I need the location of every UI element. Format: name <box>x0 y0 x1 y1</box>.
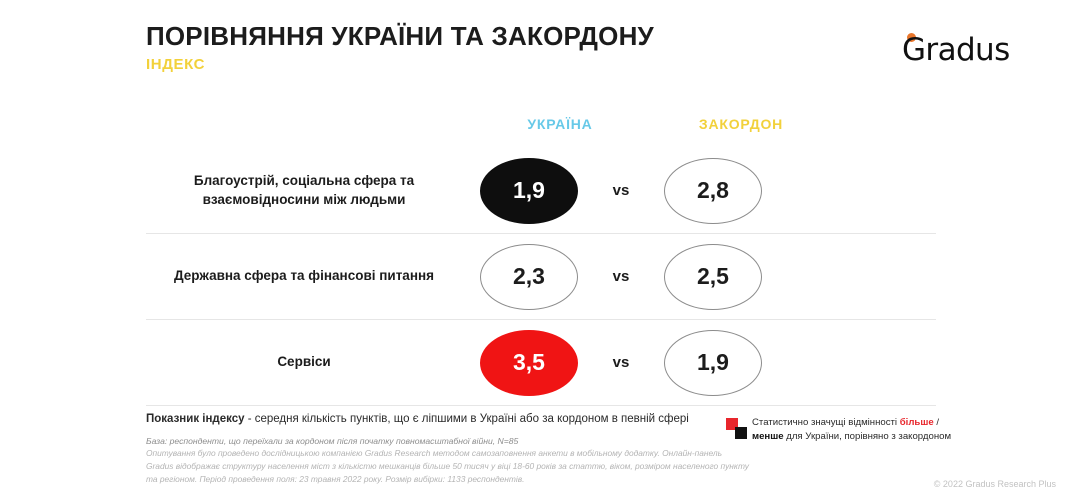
logo-wordmark: Gradus <box>902 32 1010 68</box>
copyright-notice: © 2022 Gradus Research Plus <box>934 479 1056 489</box>
row-label: Державна сфера та фінансові питання <box>146 267 480 285</box>
ukraine-value-bubble: 3,5 <box>480 330 578 396</box>
ukraine-value-bubble: 1,9 <box>480 158 578 224</box>
methodology-line-3: та регіоном. Період проведення поля: 23 … <box>146 473 936 486</box>
index-definition-text: - середня кількість пунктів, що є ліпшим… <box>245 413 689 425</box>
row-cells: 1,9 vs 2,8 <box>480 158 936 224</box>
vs-label: vs <box>578 354 664 371</box>
table-row: Сервіси 3,5 vs 1,9 <box>146 320 936 406</box>
comparison-rows: Благоустрій, соціальна сфера та взаємові… <box>146 148 936 406</box>
slide-root: ПОРІВНЯННЯ УКРАЇНИ ТА ЗАКОРДОНУ ІНДЕКС G… <box>0 0 1080 499</box>
abroad-value-bubble: 2,5 <box>664 244 762 310</box>
row-label: Благоустрій, соціальна сфера та взаємові… <box>146 172 480 208</box>
significance-legend: Статистично значущі відмінності більше /… <box>726 416 951 445</box>
legend-more-label: більше <box>900 417 934 428</box>
methodology-line-2: Gradus відображає структуру населення мі… <box>146 460 936 473</box>
column-headers: УКРАЇНА ЗАКОРДОН <box>480 116 840 138</box>
ukraine-value-bubble: 2,3 <box>480 244 578 310</box>
gradus-logo: Gradus <box>890 28 1040 76</box>
table-row: Благоустрій, соціальна сфера та взаємові… <box>146 148 936 234</box>
abroad-value-bubble: 1,9 <box>664 330 762 396</box>
legend-text: Статистично значущі відмінності більше /… <box>752 416 951 445</box>
vs-label: vs <box>578 182 664 199</box>
legend-less-label: менше <box>752 431 784 442</box>
row-label: Сервіси <box>146 353 480 371</box>
legend-separator: / <box>934 417 939 428</box>
table-row: Державна сфера та фінансові питання 2,3 … <box>146 234 936 320</box>
vs-label: vs <box>578 268 664 285</box>
index-definition-term: Показник індексу <box>146 413 245 425</box>
column-header-ukraine: УКРАЇНА <box>480 116 640 132</box>
row-cells: 3,5 vs 1,9 <box>480 330 936 396</box>
legend-swatch-black-icon <box>735 427 747 439</box>
legend-prefix: Статистично значущі відмінності <box>752 417 900 428</box>
legend-suffix: для України, порівняно з закордоном <box>784 431 952 442</box>
column-header-abroad: ЗАКОРДОН <box>661 116 821 132</box>
methodology-line-1: Опитування було проведено дослідницькою … <box>146 447 936 460</box>
legend-swatches <box>726 418 752 444</box>
row-cells: 2,3 vs 2,5 <box>480 244 936 310</box>
abroad-value-bubble: 2,8 <box>664 158 762 224</box>
